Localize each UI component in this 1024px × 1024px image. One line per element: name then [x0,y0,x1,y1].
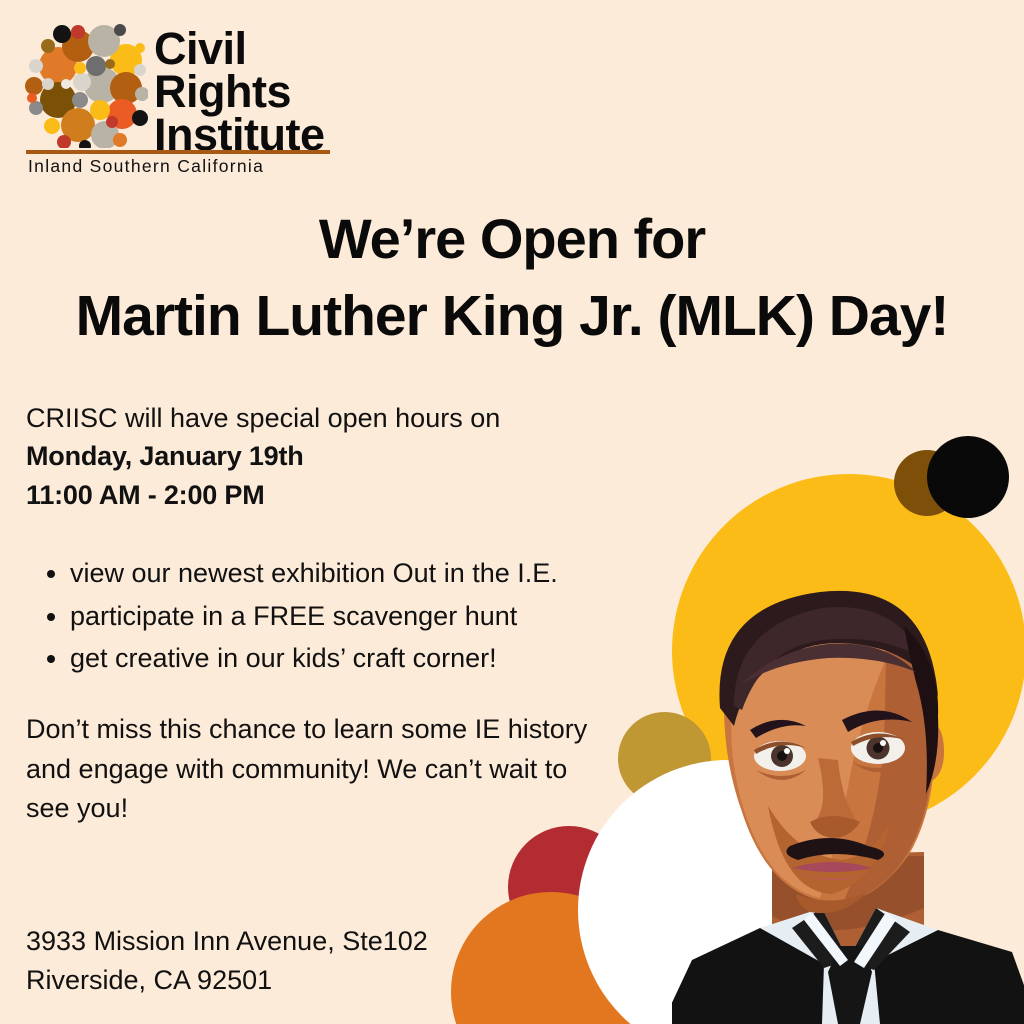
event-date: Monday, January 19th [26,437,626,475]
mlk-portrait-illustration [672,556,1024,1024]
logo-word-line-2: Rights [154,71,325,114]
logo-dot-cluster-icon [22,22,148,148]
activities-list: view our newest exhibition Out in the I.… [26,552,646,680]
page-title: We’re Open for Martin Luther King Jr. (M… [0,200,1024,356]
logo-divider-rule [26,150,330,154]
logo-wordmark: Civil Rights Institute [154,28,325,156]
address-city-state-zip: Riverside, CA 92501 [26,961,496,1000]
civil-rights-institute-logo: Civil Rights Institute Inland Southern C… [22,22,334,170]
closing-paragraph: Don’t miss this chance to learn some IE … [26,710,596,829]
event-time: 11:00 AM - 2:00 PM [26,476,626,514]
logo-tagline: Inland Southern California [28,156,264,177]
black-dot-decoration [927,436,1009,518]
open-hours-block: CRIISC will have special open hours on M… [26,399,626,514]
intro-line: CRIISC will have special open hours on [26,399,626,437]
logo-word-line-1: Civil [154,28,325,71]
headline-line-2: Martin Luther King Jr. (MLK) Day! [0,277,1024,356]
poster-canvas: Civil Rights Institute Inland Southern C… [0,0,1024,1024]
venue-address: 3933 Mission Inn Avenue, Ste102 Riversid… [26,922,496,1000]
activities-ul: view our newest exhibition Out in the I.… [26,552,646,680]
list-item: view our newest exhibition Out in the I.… [70,552,646,595]
list-item: get creative in our kids’ craft corner! [70,637,646,680]
address-street: 3933 Mission Inn Avenue, Ste102 [26,922,496,961]
list-item: participate in a FREE scavenger hunt [70,595,646,638]
headline-line-1: We’re Open for [0,200,1024,277]
